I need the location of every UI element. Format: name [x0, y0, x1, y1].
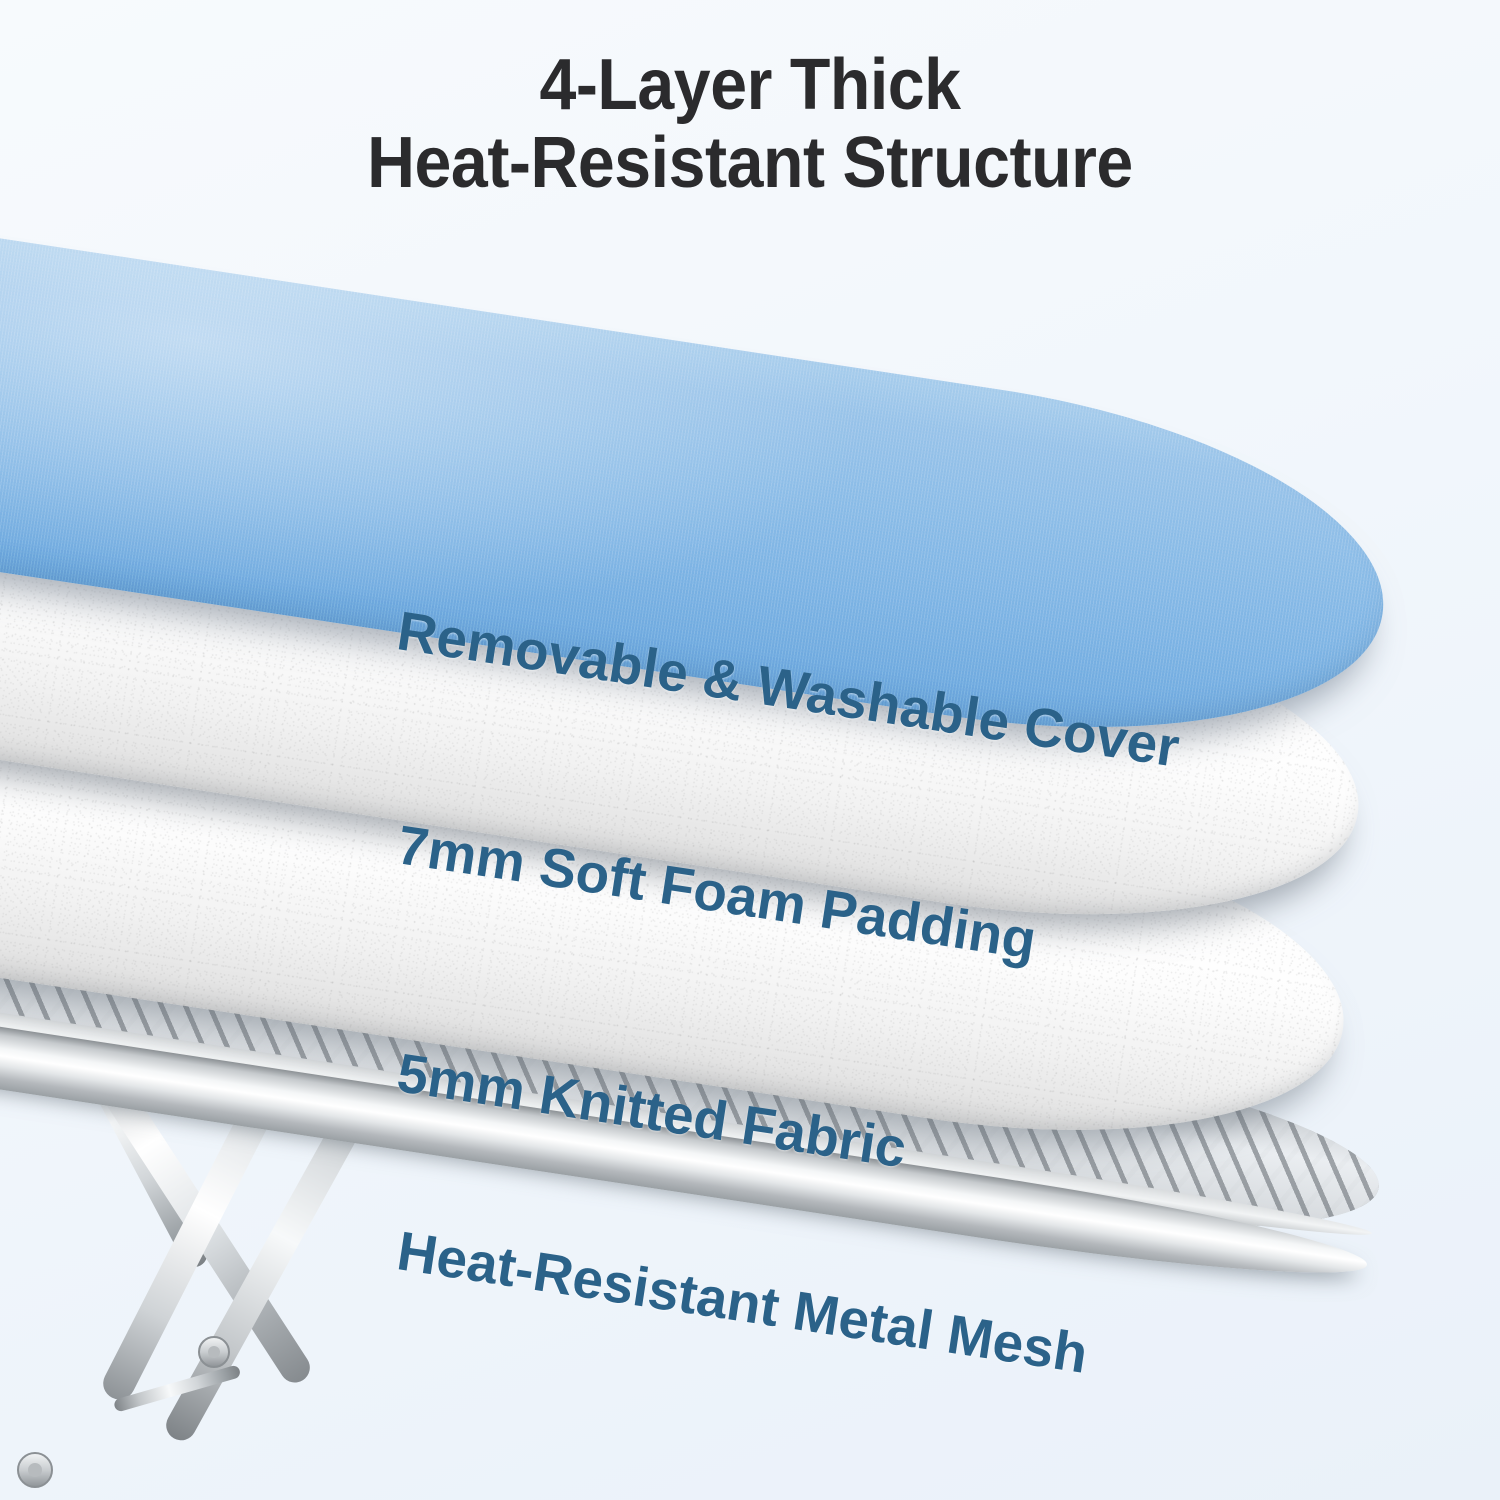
- title-line-2: Heat-Resistant Structure: [60, 124, 1440, 202]
- page-title: 4-Layer Thick Heat-Resistant Structure: [0, 46, 1500, 202]
- product-infographic: 4-Layer Thick Heat-Resistant Structure: [0, 0, 1500, 1500]
- title-line-1: 4-Layer Thick: [60, 46, 1440, 124]
